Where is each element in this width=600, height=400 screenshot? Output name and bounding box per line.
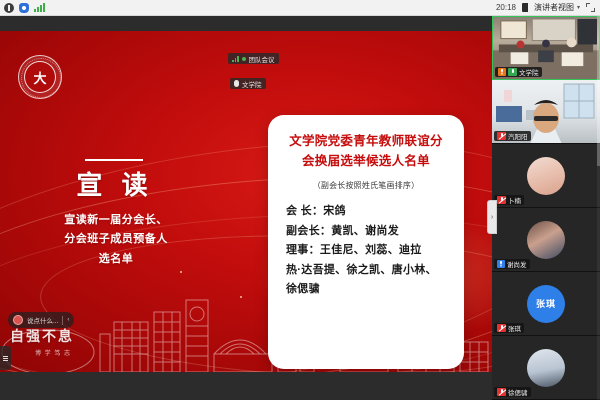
mic-off-icon (497, 324, 506, 332)
avatar (527, 349, 565, 387)
shield-icon[interactable] (4, 3, 14, 13)
card-list-line: 会 长：宋鸽 (286, 202, 450, 222)
mic-on-icon (508, 68, 517, 76)
topbar-icon-group (0, 3, 45, 13)
toolbar-handle[interactable] (0, 346, 11, 370)
participant-tile[interactable]: 卜楠 (492, 144, 600, 208)
slide-subheadline: 宣读新一届分会长、 分会班子成员预备人 选名单 (40, 211, 192, 269)
card-name-list: 会 长：宋鸽 副会长：黄凯、谢尚发 理事：王佳尼、刘蕊、迪拉 热·达吾提、徐之凯… (282, 202, 450, 300)
divider (62, 316, 63, 325)
avatar (527, 157, 565, 195)
person-icon (497, 260, 505, 268)
clock-label: 20:18 (496, 3, 516, 12)
slide-motto: 自强不息 (10, 326, 74, 346)
subhead-line: 宣读新一届分会长、 (40, 211, 192, 230)
topbar-right-group: 20:18 演讲者视图 ▾ (496, 2, 600, 13)
card-title: 文学院党委青年教师联谊分 会换届选举候选人名单 (282, 131, 450, 171)
signal-strength-icon (232, 56, 239, 62)
school-emblem: 大 (18, 55, 62, 99)
participant-name: 文学院 (519, 67, 539, 77)
participant-tile[interactable]: 文学院 (492, 16, 600, 80)
participant-name: 徐偲骕 (508, 387, 528, 397)
person-icon (498, 68, 506, 76)
slide-motto-sub: 博 学 笃 志 (35, 348, 71, 357)
card-list-line: 热·达吾提、徐之凯、唐小林、 (286, 261, 450, 281)
participant-label: 汽阳阳 (494, 131, 531, 141)
view-mode-label: 演讲者视图 (534, 2, 574, 13)
participant-name: 张琪 (508, 323, 521, 333)
chevron-down-icon: ▾ (577, 4, 580, 11)
card-list-line: 副会长：黄凯、谢尚发 (286, 222, 450, 242)
layout-icon (522, 3, 531, 12)
chat-input-pill[interactable]: 说点什么... ‹ (8, 312, 74, 328)
participant-tile[interactable]: 汽阳阳 (492, 80, 600, 144)
mic-off-icon (497, 388, 506, 396)
signal-icon (34, 3, 45, 12)
participant-tile[interactable]: 徐偲骕 (492, 336, 600, 400)
mic-off-icon (497, 196, 506, 204)
meeting-name-label: 团队会议 (249, 54, 275, 64)
participant-label: 徐偲骕 (494, 387, 531, 397)
participant-label: 张琪 (494, 323, 524, 333)
active-speaker-label: 文学院 (242, 79, 262, 89)
participant-name: 卜楠 (508, 195, 521, 205)
emoji-icon[interactable] (13, 315, 23, 325)
chevron-left-icon[interactable]: ‹ (67, 317, 69, 323)
card-list-line: 理事：王佳尼、刘蕊、迪拉 (286, 241, 450, 261)
panel-collapse-button[interactable]: › (487, 200, 497, 234)
recording-dot-icon (242, 57, 246, 61)
candidate-list-card: 文学院党委青年教师联谊分 会换届选举候选人名单 （副会长按照姓氏笔画排序） 会 … (268, 115, 464, 369)
chat-placeholder-label: 说点什么... (27, 315, 58, 325)
subhead-line: 选名单 (40, 250, 192, 269)
subhead-line: 分会班子成员预备人 (40, 230, 192, 249)
card-title-line: 文学院党委青年教师联谊分 (282, 131, 450, 151)
card-list-line: 徐偲骕 (286, 280, 450, 300)
mic-off-icon (497, 132, 506, 140)
headline-rule (85, 159, 143, 161)
participant-panel[interactable]: 文学院 汽阳阳 卜楠 谢尚发 (492, 16, 600, 400)
avatar-initials: 张琪 (527, 285, 565, 323)
avatar (527, 221, 565, 259)
participant-name: 汽阳阳 (508, 131, 528, 141)
decor-spark (180, 271, 182, 273)
fullscreen-icon[interactable] (586, 3, 595, 12)
active-speaker-badge: 文学院 (230, 78, 266, 89)
participant-label: 谢尚发 (494, 259, 530, 269)
participant-label: 文学院 (495, 67, 542, 77)
participant-tile[interactable]: 张琪 张琪 (492, 272, 600, 336)
participant-label: 卜楠 (494, 195, 524, 205)
system-topbar: 20:18 演讲者视图 ▾ (0, 0, 600, 16)
view-mode-selector[interactable]: 演讲者视图 ▾ (522, 2, 580, 13)
card-note: （副会长按照姓氏笔画排序） (282, 180, 450, 191)
meeting-name-badge: 团队会议 (228, 53, 279, 64)
emblem-ring (21, 58, 61, 98)
slide-headline: 宣 读 (55, 171, 175, 200)
participant-tile[interactable]: 谢尚发 (492, 208, 600, 272)
participant-name: 谢尚发 (507, 259, 527, 269)
microphone-icon (234, 80, 239, 87)
browser-icon[interactable] (19, 3, 29, 13)
card-title-line: 会换届选举候选人名单 (282, 151, 450, 171)
shared-screen-stage[interactable]: 大 宣 读 宣读新一届分会长、 分会班子成员预备人 选名单 (0, 16, 492, 400)
